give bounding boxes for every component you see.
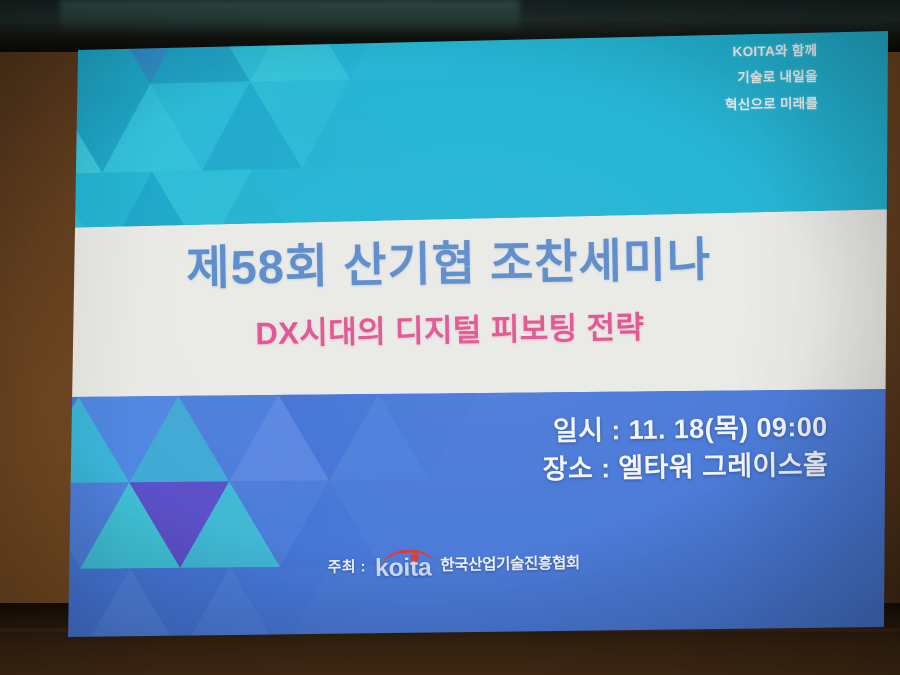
host-label: 주최 : bbox=[327, 555, 366, 577]
host-organization-name: 한국산업기술진흥협회 bbox=[440, 551, 580, 575]
wall-upper-sheen bbox=[60, 0, 520, 34]
host-credit-block: 주최 : koita 한국산업기술진흥협회 bbox=[4, 541, 900, 588]
slide-surface: KOITA와 함께 기술로 내일을 혁신으로 미래를 제58회 산기협 조찬세미… bbox=[0, 0, 900, 675]
koita-logo: koita bbox=[375, 548, 432, 581]
projection-screen: KOITA와 함께 기술로 내일을 혁신으로 미래를 제58회 산기협 조찬세미… bbox=[0, 0, 900, 675]
koita-dot-icon bbox=[410, 554, 418, 562]
slide-content: KOITA와 함께 기술로 내일을 혁신으로 미래를 제58회 산기협 조찬세미… bbox=[0, 0, 900, 675]
seminar-subtitle: DX시대의 디지털 피보팅 전략 bbox=[0, 297, 900, 357]
event-info-block: 일시 : 11. 18(목) 09:00 장소 : 엘타워 그레이스홀 bbox=[542, 408, 829, 489]
slide-title-block: 제58회 산기협 조찬세미나 DX시대의 디지털 피보팅 전략 bbox=[0, 231, 900, 358]
koita-arc-icon bbox=[381, 548, 434, 566]
tagline-line-1: KOITA와 함께 bbox=[724, 38, 818, 66]
event-venue-line: 장소 : 엘타워 그레이스홀 bbox=[542, 446, 828, 489]
seminar-title: 제58회 산기협 조찬세미나 bbox=[0, 231, 899, 299]
tagline-line-3: 혁신으로 미래를 bbox=[725, 90, 819, 118]
event-date-line: 일시 : 11. 18(목) 09:00 bbox=[542, 408, 828, 451]
projection-scene: KOITA와 함께 기술로 내일을 혁신으로 미래를 제58회 산기협 조찬세미… bbox=[0, 0, 900, 675]
tagline-line-2: 기술로 내일을 bbox=[724, 64, 818, 92]
koita-tagline: KOITA와 함께 기술로 내일을 혁신으로 미래를 bbox=[724, 38, 818, 118]
